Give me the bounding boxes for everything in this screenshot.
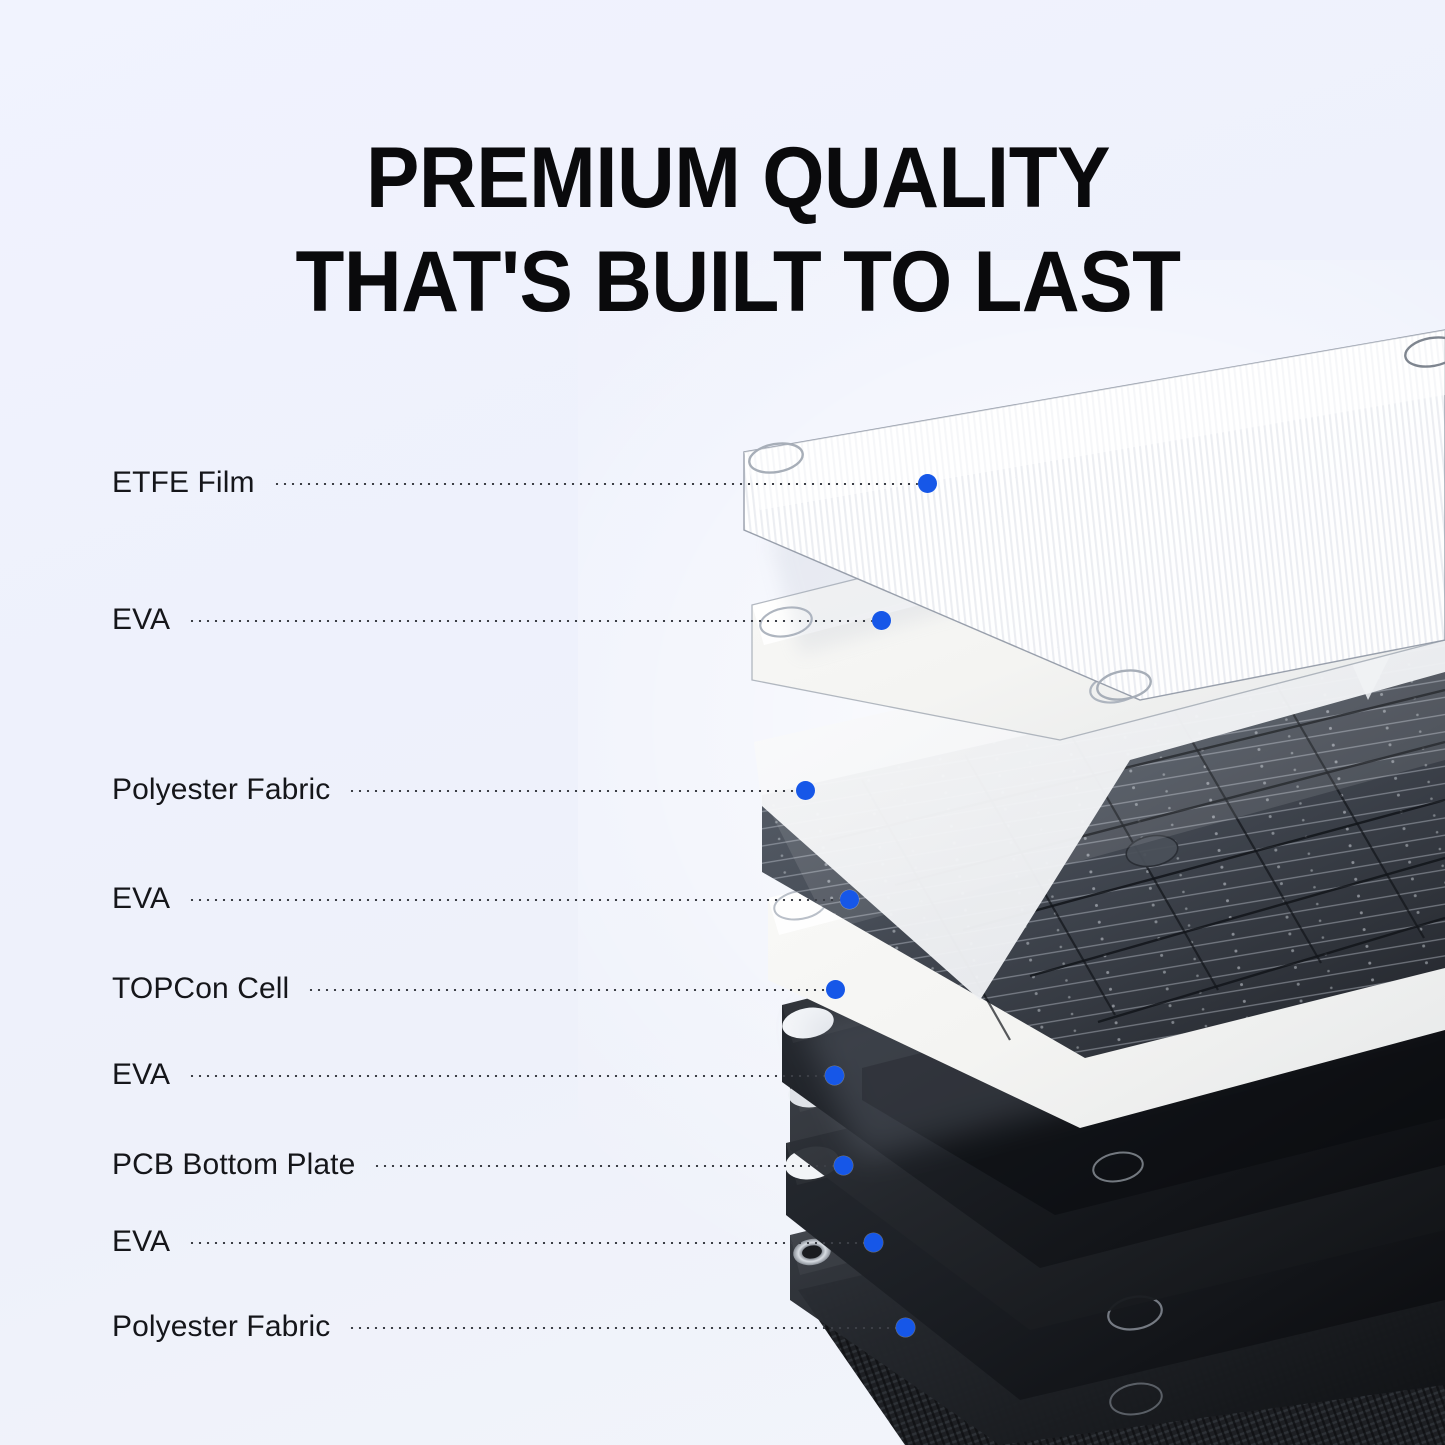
leader-line xyxy=(307,989,828,991)
layer-marker-dot[interactable] xyxy=(896,1318,915,1337)
leader-line xyxy=(348,790,798,792)
leader-line xyxy=(188,899,842,901)
layer-callout-row[interactable]: EVA xyxy=(112,1055,844,1095)
layer-callout-row[interactable]: Polyester Fabric xyxy=(112,770,815,810)
leader-line xyxy=(273,483,920,485)
layer-label: EVA xyxy=(112,879,170,919)
page-title: PREMIUM QUALITY THAT'S BUILT TO LAST xyxy=(189,126,1286,334)
layer-callout-row[interactable]: Polyester Fabric xyxy=(112,1307,915,1347)
layer-label: EVA xyxy=(112,600,170,640)
layer-marker-dot[interactable] xyxy=(834,1156,853,1175)
layer-callout-row[interactable]: EVA xyxy=(112,600,891,640)
layer-callout-row[interactable]: EVA xyxy=(112,879,859,919)
title-line-2: THAT'S BUILT TO LAST xyxy=(189,230,1286,334)
layer-callout-row[interactable]: EVA xyxy=(112,1222,883,1262)
layer-label: TOPCon Cell xyxy=(112,969,289,1009)
layer-marker-dot[interactable] xyxy=(840,890,859,909)
layer-marker-dot[interactable] xyxy=(872,611,891,630)
layer-label: EVA xyxy=(112,1055,170,1095)
layer-callout-row[interactable]: TOPCon Cell xyxy=(112,969,845,1009)
layer-marker-dot[interactable] xyxy=(826,980,845,999)
title-line-1: PREMIUM QUALITY xyxy=(366,130,1110,226)
layer-callout-row[interactable]: PCB Bottom Plate xyxy=(112,1145,853,1185)
leader-line xyxy=(373,1165,836,1167)
leader-line xyxy=(188,620,874,622)
layer-marker-dot[interactable] xyxy=(918,474,937,493)
layer-label: Polyester Fabric xyxy=(112,770,330,810)
layer-label: EVA xyxy=(112,1222,170,1262)
layer-label: PCB Bottom Plate xyxy=(112,1145,355,1185)
layer-label: ETFE Film xyxy=(112,463,255,503)
leader-line xyxy=(348,1327,898,1329)
layer-marker-dot[interactable] xyxy=(796,781,815,800)
leader-line xyxy=(188,1242,866,1244)
layer-marker-dot[interactable] xyxy=(825,1066,844,1085)
layer-label: Polyester Fabric xyxy=(112,1307,330,1347)
leader-line xyxy=(188,1075,827,1077)
layer-callout-row[interactable]: ETFE Film xyxy=(112,463,937,503)
layer-marker-dot[interactable] xyxy=(864,1233,883,1252)
